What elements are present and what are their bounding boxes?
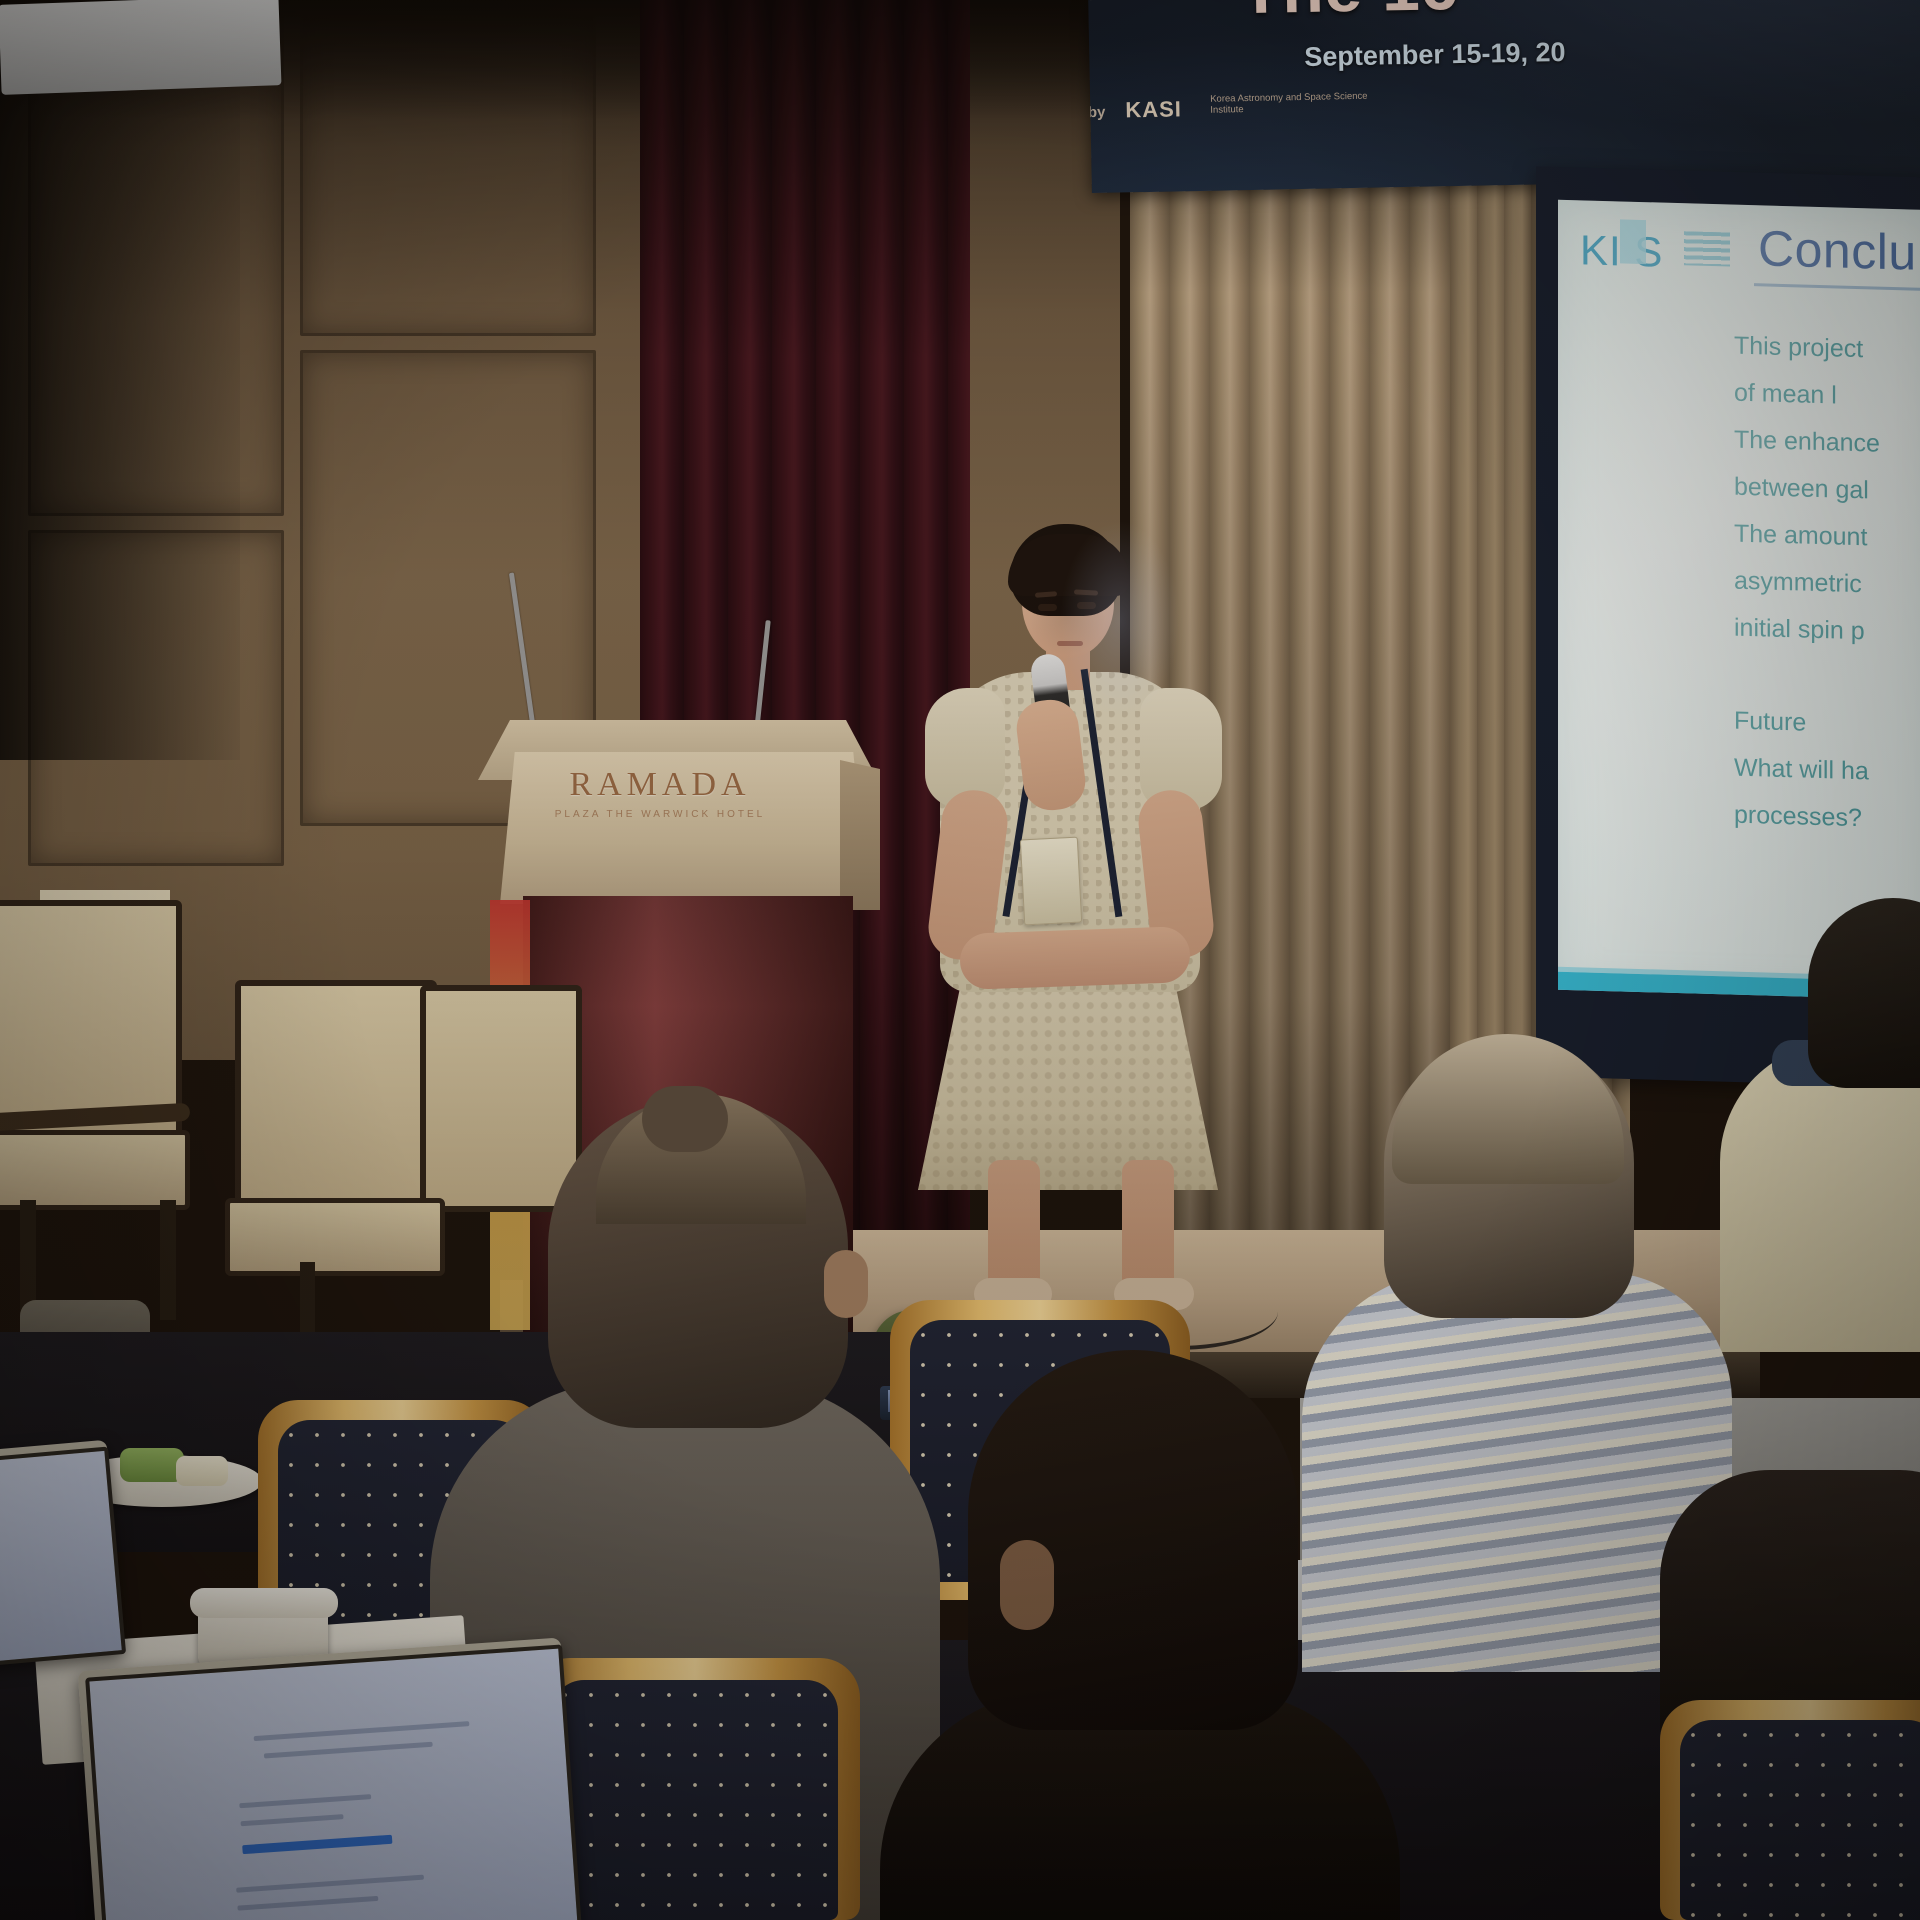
hotel-brand-name: RAMADA <box>540 766 780 804</box>
banquet-chair-pad <box>552 1680 838 1920</box>
slide-title-rule <box>1754 283 1920 297</box>
speaker-sleeve-left <box>925 688 1005 808</box>
laptop-text-line <box>240 1814 343 1826</box>
banquet-chair-front <box>530 1658 860 1920</box>
slide-logo-block-icon <box>1620 219 1646 264</box>
lounge-chair-seat-2 <box>225 1198 445 1276</box>
speaker-hair-front <box>1008 534 1130 596</box>
banner-title: The 16 <box>1239 0 1459 29</box>
laptop-right <box>0 0 281 95</box>
audience-person-2-head <box>968 1350 1298 1730</box>
lounge-chair-back-3 <box>420 985 582 1212</box>
laptop-foreground[interactable] <box>78 1638 583 1920</box>
slide-body: This project of mean l The enhance betwe… <box>1734 323 1920 848</box>
laptop-left-edge[interactable] <box>0 1440 125 1667</box>
podium-branding: RAMADA PLAZA THE WARWICK HOTEL <box>540 766 780 820</box>
name-badge <box>1020 837 1082 926</box>
laptop-text-line <box>264 1742 433 1759</box>
kasi-logo-text: KASI <box>1125 96 1182 123</box>
coffee-cup-lid <box>190 1588 338 1618</box>
projection-screen: KI S Conclu This project of mean l The e… <box>1558 200 1920 1001</box>
banquet-chair-pad <box>1680 1720 1920 1920</box>
audience-person-5-body <box>1660 1470 1920 1730</box>
hotel-brand-subtitle: PLAZA THE WARWICK HOTEL <box>540 809 780 820</box>
banner-date: September 15-19, 20 <box>1304 37 1566 73</box>
laptop-link[interactable] <box>242 1835 393 1854</box>
audience-person-1-hair-bun <box>642 1086 728 1152</box>
speaker-leg-right <box>1122 1160 1174 1290</box>
plate-food-white <box>176 1456 228 1486</box>
speaker-eye-right <box>1077 602 1096 609</box>
conference-banner: The 16 September 15-19, 20 Organized by … <box>1088 0 1920 193</box>
chair-leg <box>160 1200 176 1320</box>
laptop-text-line <box>236 1875 424 1893</box>
slide-future-line: processes? <box>1734 792 1920 848</box>
laptop-text-line <box>237 1896 378 1911</box>
lounge-chair-back-2 <box>235 980 437 1222</box>
laptop-foreground-screen <box>85 1644 583 1920</box>
conference-photo-scene: The 16 September 15-19, 20 Organized by … <box>0 0 1920 1920</box>
plate-food-green <box>120 1448 184 1482</box>
audience-person-2-ear <box>1000 1540 1054 1630</box>
kasi-full-name: Korea Astronomy and Space Science Instit… <box>1210 90 1390 115</box>
slide-logo-bars-icon <box>1684 231 1730 266</box>
laptop-text-line <box>239 1794 371 1808</box>
audience-person-4-body <box>1720 1042 1920 1352</box>
laptop-text-line <box>253 1721 469 1741</box>
speaker-folded-forearm <box>959 926 1191 990</box>
lounge-chair-seat-1 <box>0 1130 190 1210</box>
banner-organized-label: Organized by <box>1088 104 1105 123</box>
speaker-mouth <box>1057 641 1083 646</box>
speaker-leg-left <box>988 1160 1040 1290</box>
speaker-eye-left <box>1038 604 1057 611</box>
audience-person-1-ear <box>824 1250 868 1318</box>
slide-title: Conclu <box>1758 219 1917 281</box>
laptop-left-screen <box>0 1447 126 1667</box>
podium-side <box>840 760 880 910</box>
banquet-chair-right <box>1660 1700 1920 1920</box>
